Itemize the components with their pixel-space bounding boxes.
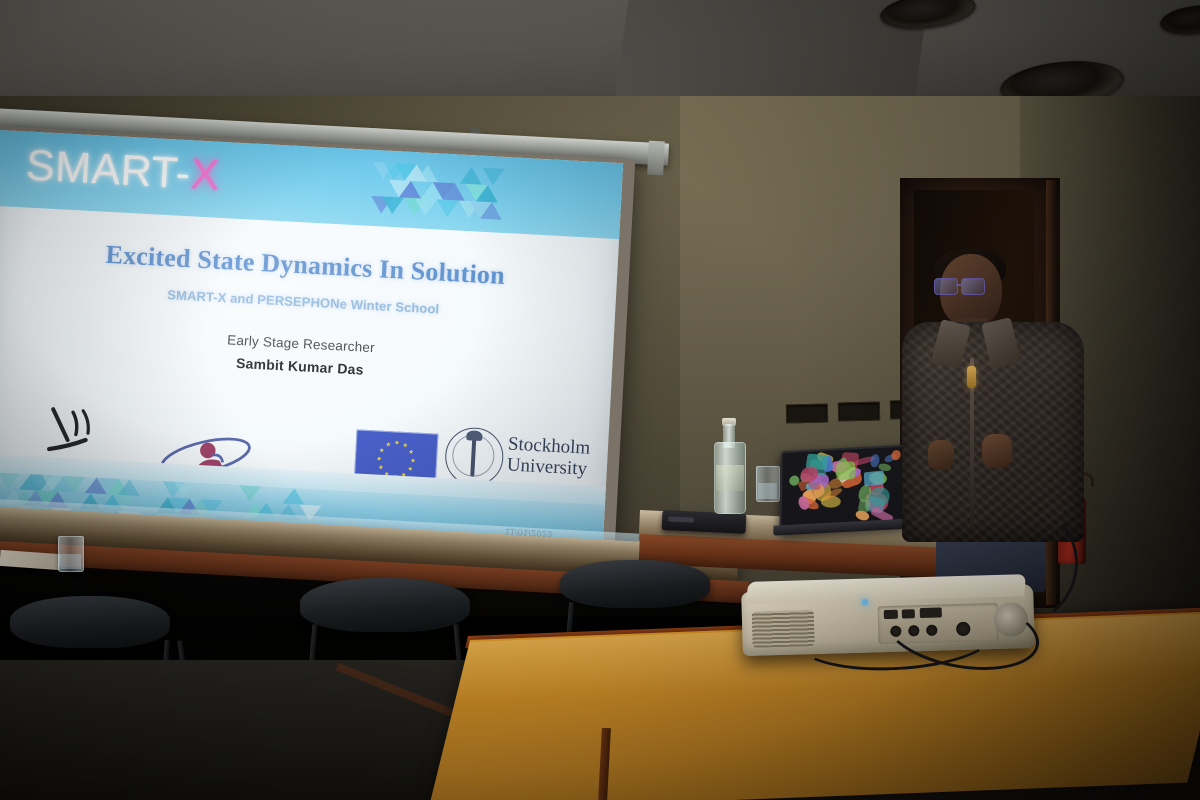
eu-star-icon [409, 449, 414, 454]
mosaic-triangle [460, 167, 483, 185]
eu-star-icon [408, 466, 413, 471]
glasses-lens-right [961, 278, 985, 295]
laptop-sticker [837, 461, 856, 481]
mosaic-triangle [475, 184, 498, 202]
mosaic-triangle [480, 202, 503, 220]
eu-star-icon [378, 465, 383, 470]
eu-star-icon [410, 458, 415, 463]
su-label-line2: University [506, 454, 589, 479]
presenter-hand-left [928, 440, 954, 470]
smartx-logo-accent: X [189, 150, 221, 199]
laptop[interactable] [779, 445, 906, 532]
presenter-hand-right [982, 434, 1012, 468]
eu-star-icon [403, 443, 408, 448]
mosaic-triangle [442, 183, 465, 201]
smartx-logo-text: SMART- [25, 141, 192, 198]
wall-plate [786, 404, 828, 424]
glasses-icon [934, 278, 990, 294]
mosaic-triangle [0, 472, 20, 489]
mosaic-triangle [239, 485, 262, 502]
mosaic-triangle [381, 196, 404, 214]
mosaic-triangle [63, 476, 86, 493]
screen-roller-bracket [470, 128, 480, 134]
smartx-logo: SMART-X [25, 141, 221, 200]
su-torch-icon [470, 437, 476, 477]
mosaic-triangle [398, 180, 421, 198]
jacket-zipper-pull [967, 366, 976, 388]
mosaic-triangle [173, 482, 196, 499]
screen-roller-endcap [647, 141, 665, 176]
mosaic-triangle [118, 479, 141, 496]
chair-seat [300, 578, 470, 632]
projection-screen: SMART-X Excited State Dynamics In Soluti… [0, 130, 631, 563]
chair-seat [560, 560, 710, 608]
mosaic-triangle [416, 164, 439, 182]
triangle-mosaic-header [359, 149, 623, 239]
vetenskapsradet-mark-icon [41, 405, 110, 460]
drinking-glass[interactable] [58, 536, 84, 572]
wall-plate [838, 402, 880, 422]
eu-star-icon [386, 442, 391, 447]
mosaic-triangle [482, 168, 505, 186]
eu-star-icon [379, 448, 384, 453]
bottle-body [714, 442, 746, 514]
mosaic-triangle [414, 198, 437, 216]
water-bottle[interactable] [714, 418, 744, 514]
laptop-sticker [864, 470, 885, 486]
bottle-label [716, 465, 744, 491]
eu-star-icon [376, 456, 381, 461]
eu-star-icon [394, 440, 399, 445]
laptop-sticker [857, 499, 870, 512]
mosaic-triangle [283, 488, 306, 505]
drinking-glass[interactable] [756, 466, 780, 502]
chair-seat [10, 596, 170, 648]
su-label: Stockholm University [506, 433, 590, 479]
presentation-room-photo: SMART-X Excited State Dynamics In Soluti… [0, 0, 1200, 800]
title-slide: SMART-X Excited State Dynamics In Soluti… [0, 130, 623, 553]
mosaic-triangle [436, 199, 459, 217]
glasses-lens-left [934, 278, 958, 295]
